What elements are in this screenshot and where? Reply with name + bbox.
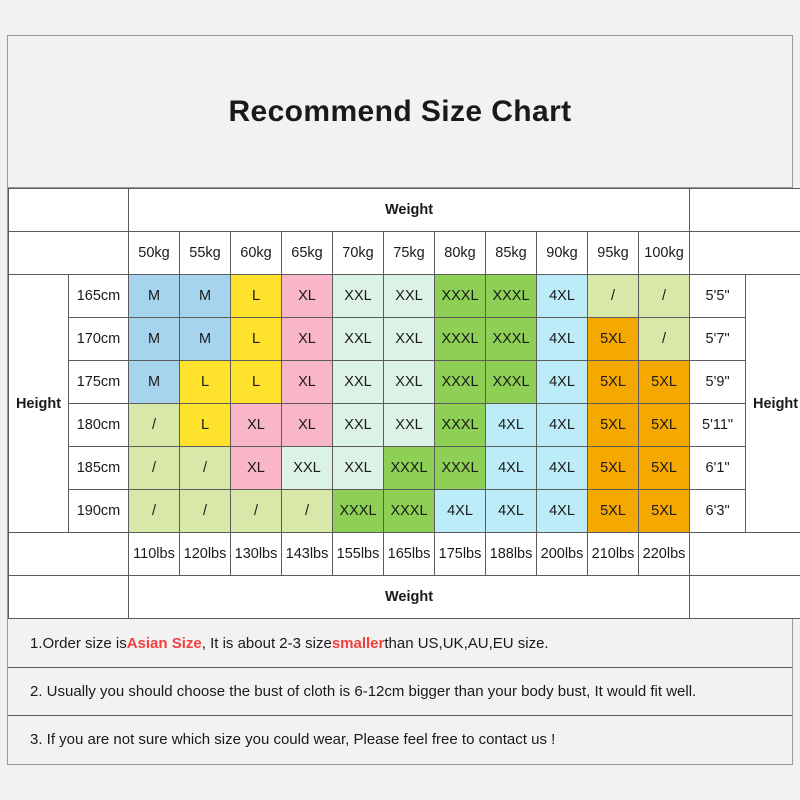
size-cell-r1-c3[interactable]: XL xyxy=(282,318,333,361)
height-cm-5: 190cm xyxy=(69,490,129,533)
size-cell-r3-c5[interactable]: XXL xyxy=(384,404,435,447)
size-cell-r3-c6[interactable]: XXXL xyxy=(435,404,486,447)
height-cm-0: 165cm xyxy=(69,275,129,318)
height-cm-3: 180cm xyxy=(69,404,129,447)
spacer-left-bottom xyxy=(9,576,129,619)
size-cell-r4-c3[interactable]: XXL xyxy=(282,447,333,490)
weight-lbs-1: 120lbs xyxy=(180,533,231,576)
weight-lbs-6: 175lbs xyxy=(435,533,486,576)
spacer-right-kg xyxy=(690,232,800,275)
height-ft-3: 5'11" xyxy=(690,404,746,447)
note-1-part-2: , It is about 2-3 size xyxy=(202,635,332,652)
weight-kg-5: 75kg xyxy=(384,232,435,275)
notes-section: 1.Order size is Asian Size, It is about … xyxy=(8,619,792,763)
weight-kg-9: 95kg xyxy=(588,232,639,275)
note-3: 3. If you are not sure which size you co… xyxy=(8,715,792,763)
weight-header-bottom: Weight xyxy=(129,576,690,619)
size-cell-r3-c10[interactable]: 5XL xyxy=(639,404,690,447)
height-label-left: Height xyxy=(9,275,69,533)
note-1-part-0: 1.Order size is xyxy=(30,635,127,652)
weight-kg-6: 80kg xyxy=(435,232,486,275)
size-cell-r1-c5[interactable]: XXL xyxy=(384,318,435,361)
size-cell-r3-c2[interactable]: XL xyxy=(231,404,282,447)
height-cm-1: 170cm xyxy=(69,318,129,361)
size-cell-r1-c2[interactable]: L xyxy=(231,318,282,361)
note-1: 1.Order size is Asian Size, It is about … xyxy=(8,619,792,667)
size-cell-r5-c3[interactable]: / xyxy=(282,490,333,533)
size-chart-table: Weight50kg55kg60kg65kg70kg75kg80kg85kg90… xyxy=(8,188,800,619)
size-cell-r5-c10[interactable]: 5XL xyxy=(639,490,690,533)
size-cell-r2-c9[interactable]: 5XL xyxy=(588,361,639,404)
weight-lbs-10: 220lbs xyxy=(639,533,690,576)
size-cell-r0-c3[interactable]: XL xyxy=(282,275,333,318)
size-cell-r2-c3[interactable]: XL xyxy=(282,361,333,404)
size-cell-r5-c8[interactable]: 4XL xyxy=(537,490,588,533)
size-cell-r0-c6[interactable]: XXXL xyxy=(435,275,486,318)
size-cell-r4-c10[interactable]: 5XL xyxy=(639,447,690,490)
size-cell-r5-c5[interactable]: XXXL xyxy=(384,490,435,533)
size-cell-r0-c5[interactable]: XXL xyxy=(384,275,435,318)
height-ft-4: 6'1" xyxy=(690,447,746,490)
size-cell-r0-c2[interactable]: L xyxy=(231,275,282,318)
page-title: Recommend Size Chart xyxy=(228,95,571,129)
spacer-right-lbs xyxy=(690,533,800,576)
size-cell-r0-c8[interactable]: 4XL xyxy=(537,275,588,318)
height-cm-2: 175cm xyxy=(69,361,129,404)
size-cell-r1-c9[interactable]: 5XL xyxy=(588,318,639,361)
size-cell-r1-c1[interactable]: M xyxy=(180,318,231,361)
size-cell-r5-c1[interactable]: / xyxy=(180,490,231,533)
height-cm-4: 185cm xyxy=(69,447,129,490)
size-cell-r4-c6[interactable]: XXXL xyxy=(435,447,486,490)
note-3-part-0: 3. If you are not sure which size you co… xyxy=(30,731,555,748)
weight-lbs-5: 165lbs xyxy=(384,533,435,576)
size-cell-r3-c9[interactable]: 5XL xyxy=(588,404,639,447)
note-1-part-4: than US,UK,AU,EU size. xyxy=(384,635,548,652)
height-ft-5: 6'3" xyxy=(690,490,746,533)
size-cell-r1-c4[interactable]: XXL xyxy=(333,318,384,361)
size-cell-r1-c6[interactable]: XXXL xyxy=(435,318,486,361)
size-cell-r4-c1[interactable]: / xyxy=(180,447,231,490)
chart-title-band: Recommend Size Chart xyxy=(8,36,792,188)
weight-lbs-0: 110lbs xyxy=(129,533,180,576)
note-1-part-3: smaller xyxy=(332,635,385,652)
weight-lbs-9: 210lbs xyxy=(588,533,639,576)
size-cell-r2-c10[interactable]: 5XL xyxy=(639,361,690,404)
size-cell-r5-c2[interactable]: / xyxy=(231,490,282,533)
size-cell-r4-c7[interactable]: 4XL xyxy=(486,447,537,490)
size-cell-r1-c7[interactable]: XXXL xyxy=(486,318,537,361)
weight-kg-3: 65kg xyxy=(282,232,333,275)
size-cell-r4-c9[interactable]: 5XL xyxy=(588,447,639,490)
weight-kg-4: 70kg xyxy=(333,232,384,275)
note-2: 2. Usually you should choose the bust of… xyxy=(8,667,792,715)
weight-lbs-8: 200lbs xyxy=(537,533,588,576)
size-cell-r2-c0[interactable]: M xyxy=(129,361,180,404)
size-cell-r3-c0[interactable]: / xyxy=(129,404,180,447)
weight-lbs-4: 155lbs xyxy=(333,533,384,576)
size-cell-r4-c8[interactable]: 4XL xyxy=(537,447,588,490)
size-cell-r2-c1[interactable]: L xyxy=(180,361,231,404)
size-cell-r5-c4[interactable]: XXXL xyxy=(333,490,384,533)
spacer-left-top xyxy=(9,189,129,232)
size-cell-r2-c7[interactable]: XXXL xyxy=(486,361,537,404)
size-cell-r3-c3[interactable]: XL xyxy=(282,404,333,447)
size-cell-r4-c4[interactable]: XXL xyxy=(333,447,384,490)
size-cell-r2-c4[interactable]: XXL xyxy=(333,361,384,404)
size-chart-frame: Recommend Size Chart Weight50kg55kg60kg6… xyxy=(7,35,793,765)
size-cell-r4-c2[interactable]: XL xyxy=(231,447,282,490)
note-2-part-0: 2. Usually you should choose the bust of… xyxy=(30,683,696,700)
size-cell-r5-c9[interactable]: 5XL xyxy=(588,490,639,533)
size-cell-r5-c0[interactable]: / xyxy=(129,490,180,533)
height-label-right: Height xyxy=(746,275,800,533)
weight-lbs-3: 143lbs xyxy=(282,533,333,576)
size-cell-r2-c5[interactable]: XXL xyxy=(384,361,435,404)
size-cell-r1-c10[interactable]: / xyxy=(639,318,690,361)
weight-lbs-2: 130lbs xyxy=(231,533,282,576)
spacer-right-top xyxy=(690,189,800,232)
size-cell-r0-c10[interactable]: / xyxy=(639,275,690,318)
size-cell-r2-c8[interactable]: 4XL xyxy=(537,361,588,404)
size-cell-r0-c1[interactable]: M xyxy=(180,275,231,318)
spacer-left-kg xyxy=(9,232,129,275)
size-cell-r4-c5[interactable]: XXXL xyxy=(384,447,435,490)
size-chart-body: Weight50kg55kg60kg65kg70kg75kg80kg85kg90… xyxy=(9,189,800,619)
size-cell-r3-c1[interactable]: L xyxy=(180,404,231,447)
size-cell-r0-c9[interactable]: / xyxy=(588,275,639,318)
note-1-part-1: Asian Size xyxy=(127,635,202,652)
size-cell-r2-c2[interactable]: L xyxy=(231,361,282,404)
height-ft-0: 5'5" xyxy=(690,275,746,318)
size-cell-r1-c8[interactable]: 4XL xyxy=(537,318,588,361)
size-cell-r3-c4[interactable]: XXL xyxy=(333,404,384,447)
size-cell-r5-c7[interactable]: 4XL xyxy=(486,490,537,533)
size-cell-r0-c0[interactable]: M xyxy=(129,275,180,318)
size-cell-r0-c7[interactable]: XXXL xyxy=(486,275,537,318)
height-ft-2: 5'9" xyxy=(690,361,746,404)
height-ft-1: 5'7" xyxy=(690,318,746,361)
size-cell-r1-c0[interactable]: M xyxy=(129,318,180,361)
weight-header-top: Weight xyxy=(129,189,690,232)
size-cell-r5-c6[interactable]: 4XL xyxy=(435,490,486,533)
weight-kg-8: 90kg xyxy=(537,232,588,275)
size-cell-r4-c0[interactable]: / xyxy=(129,447,180,490)
weight-kg-10: 100kg xyxy=(639,232,690,275)
spacer-left-lbs xyxy=(9,533,129,576)
weight-lbs-7: 188lbs xyxy=(486,533,537,576)
weight-kg-2: 60kg xyxy=(231,232,282,275)
size-cell-r3-c8[interactable]: 4XL xyxy=(537,404,588,447)
size-cell-r0-c4[interactable]: XXL xyxy=(333,275,384,318)
weight-kg-1: 55kg xyxy=(180,232,231,275)
spacer-right-bottom xyxy=(690,576,800,619)
size-cell-r3-c7[interactable]: 4XL xyxy=(486,404,537,447)
weight-kg-0: 50kg xyxy=(129,232,180,275)
weight-kg-7: 85kg xyxy=(486,232,537,275)
size-cell-r2-c6[interactable]: XXXL xyxy=(435,361,486,404)
